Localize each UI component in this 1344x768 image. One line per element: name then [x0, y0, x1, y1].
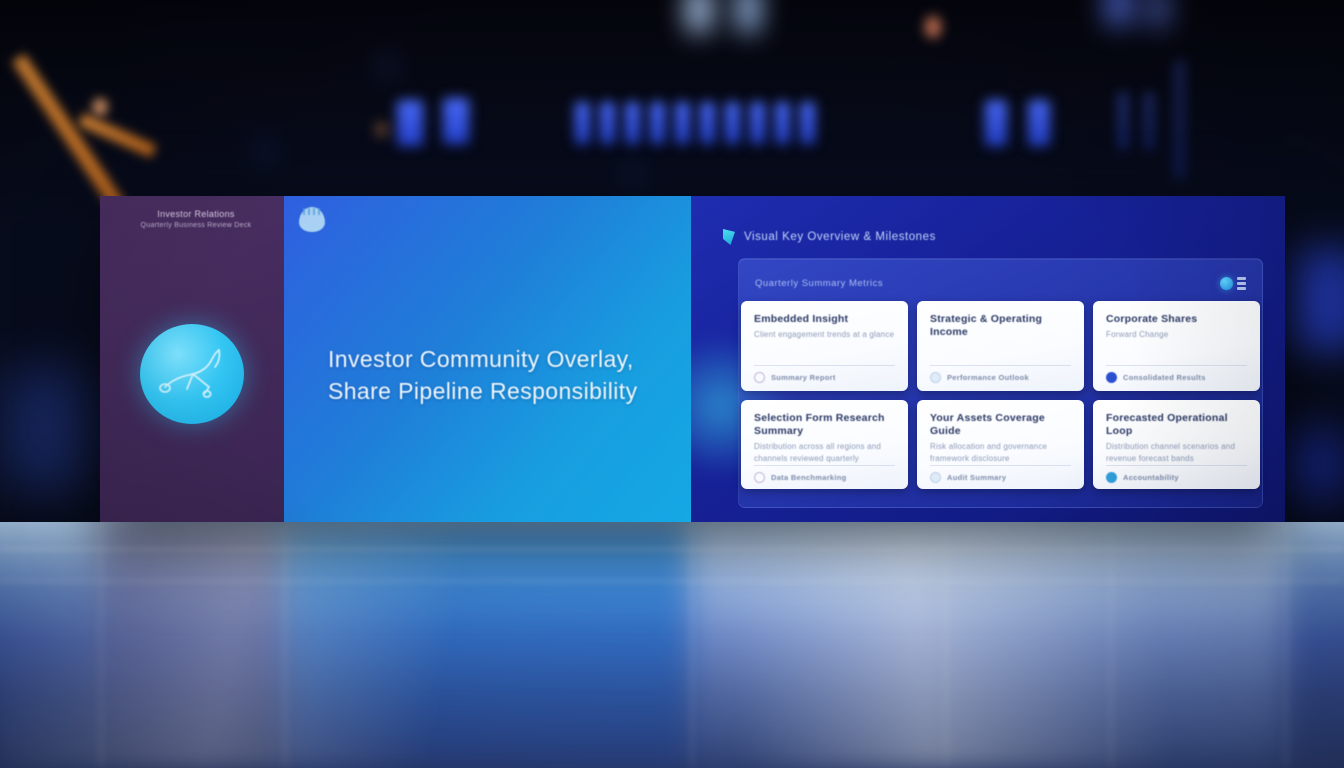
- bokeh-light: [258, 140, 272, 160]
- tile-footer-label: Accountability: [1123, 473, 1179, 482]
- presentation-slide: Investor Relations Quarterly Business Re…: [100, 196, 1285, 522]
- dashboard-panel-controls[interactable]: [1220, 277, 1246, 290]
- bokeh-light-orange: [925, 16, 941, 38]
- tile-body: Forward Change: [1106, 329, 1247, 341]
- tile-footer-label: Consolidated Results: [1123, 373, 1206, 382]
- slide-dashboard: Visual Key Overview & Milestones Quarter…: [691, 196, 1285, 522]
- bokeh-strip: [1144, 92, 1154, 150]
- metric-tile-grid: Embedded Insight Client engagement trend…: [740, 301, 1261, 489]
- bokeh-light-orange: [375, 122, 388, 137]
- bokeh-strip: [600, 102, 615, 144]
- tile-body: Distribution channel scenarios and reven…: [1106, 441, 1247, 465]
- dashboard-panel-label: Quarterly Summary Metrics: [755, 278, 883, 289]
- presentation-badge-icon: [299, 207, 325, 232]
- brand-line-2: Quarterly Business Review Deck: [118, 221, 274, 231]
- tile-title: Selection Form Research Summary: [754, 412, 895, 439]
- dashboard-header: Visual Key Overview & Milestones: [723, 229, 936, 245]
- title-line-2: Share Pipeline Responsibility: [328, 376, 673, 408]
- bokeh-strip: [700, 102, 715, 144]
- tile-footer: Consolidated Results: [1106, 365, 1247, 391]
- metric-tile[interactable]: Strategic & Operating Income Performance…: [917, 301, 1084, 391]
- dashboard-panel-header: Quarterly Summary Metrics: [755, 272, 1246, 294]
- tile-footer: Performance Outlook: [930, 365, 1071, 391]
- hollow-circle-icon: [754, 472, 765, 483]
- tile-title: Embedded Insight: [754, 313, 895, 326]
- title-line-1: Investor Community Overlay,: [328, 344, 673, 376]
- bokeh-strip: [1118, 92, 1128, 150]
- bokeh-strip: [625, 102, 640, 144]
- metric-tile[interactable]: Forecasted Operational Loop Distribution…: [1093, 400, 1260, 490]
- tile-title: Your Assets Coverage Guide: [930, 412, 1071, 439]
- slide-sidebar: Investor Relations Quarterly Business Re…: [100, 196, 284, 522]
- tile-body: Distribution across all regions and chan…: [754, 441, 895, 465]
- bokeh-light: [628, 168, 639, 182]
- reflective-floor: [0, 522, 1344, 768]
- tile-footer-label: Summary Report: [771, 373, 836, 382]
- brand-line-1: Investor Relations: [157, 209, 234, 219]
- tile-footer-label: Audit Summary: [947, 473, 1006, 482]
- metric-tile[interactable]: Your Assets Coverage Guide Risk allocati…: [917, 400, 1084, 490]
- metric-tile[interactable]: Embedded Insight Client engagement trend…: [741, 301, 908, 391]
- tile-body: Client engagement trends at a glance: [754, 329, 895, 341]
- bokeh-light: [736, 0, 760, 32]
- bokeh-strip: [985, 100, 1007, 146]
- bokeh-light: [686, 0, 712, 32]
- bokeh-strip: [800, 102, 815, 144]
- tile-title: Forecasted Operational Loop: [1106, 412, 1247, 439]
- dashboard-panel: Quarterly Summary Metrics Embedded Insig…: [738, 258, 1263, 508]
- bokeh-strip: [443, 98, 469, 144]
- bokeh-light: [1146, 0, 1170, 28]
- bokeh-strip: [1174, 60, 1185, 180]
- floor-sheen: [0, 522, 1344, 768]
- tile-body: Risk allocation and governance framework…: [930, 441, 1071, 465]
- bokeh-strip: [675, 102, 690, 144]
- bokeh-panel: [1292, 250, 1344, 350]
- solid-blue-circle-icon: [1106, 372, 1117, 383]
- bokeh-light: [380, 58, 393, 74]
- bokeh-strip: [775, 102, 790, 144]
- list-view-icon[interactable]: [1237, 277, 1246, 290]
- tile-footer-label: Data Benchmarking: [771, 473, 847, 482]
- status-dot-icon[interactable]: [1220, 277, 1233, 290]
- scene-root: Investor Relations Quarterly Business Re…: [0, 0, 1344, 768]
- metric-tile[interactable]: Corporate Shares Forward Change Consolid…: [1093, 301, 1260, 391]
- bokeh-strip: [650, 102, 665, 144]
- tile-footer: Audit Summary: [930, 465, 1071, 489]
- bokeh-light: [1104, 0, 1134, 26]
- bokeh-strip: [575, 102, 590, 144]
- bokeh-strip: [1028, 100, 1050, 146]
- bokeh-panel: [0, 370, 90, 490]
- ghost-circle-icon: [930, 472, 941, 483]
- tile-footer: Summary Report: [754, 365, 895, 391]
- tile-title: Strategic & Operating Income: [930, 313, 1071, 340]
- tile-title: Corporate Shares: [1106, 313, 1247, 326]
- bokeh-panel: [1288, 430, 1344, 500]
- dashboard-header-label: Visual Key Overview & Milestones: [744, 231, 936, 243]
- brand-block: Investor Relations Quarterly Business Re…: [118, 208, 274, 231]
- page-title: Investor Community Overlay, Share Pipeli…: [328, 344, 673, 407]
- solid-cyan-circle-icon: [1106, 472, 1117, 483]
- slide-hero: Investor Community Overlay, Share Pipeli…: [284, 196, 691, 522]
- bokeh-strip: [725, 102, 740, 144]
- hollow-circle-icon: [754, 372, 765, 383]
- tile-footer-label: Performance Outlook: [947, 373, 1029, 382]
- flag-icon: [723, 229, 735, 245]
- ghost-circle-icon: [930, 372, 941, 383]
- tile-footer: Data Benchmarking: [754, 465, 895, 489]
- bokeh-light-orange: [92, 98, 108, 116]
- metric-tile[interactable]: Selection Form Research Summary Distribu…: [741, 400, 908, 490]
- bokeh-strip: [397, 100, 423, 146]
- bokeh-strip: [750, 102, 765, 144]
- tile-footer: Accountability: [1106, 465, 1247, 489]
- abstract-line-art-icon: [140, 324, 244, 424]
